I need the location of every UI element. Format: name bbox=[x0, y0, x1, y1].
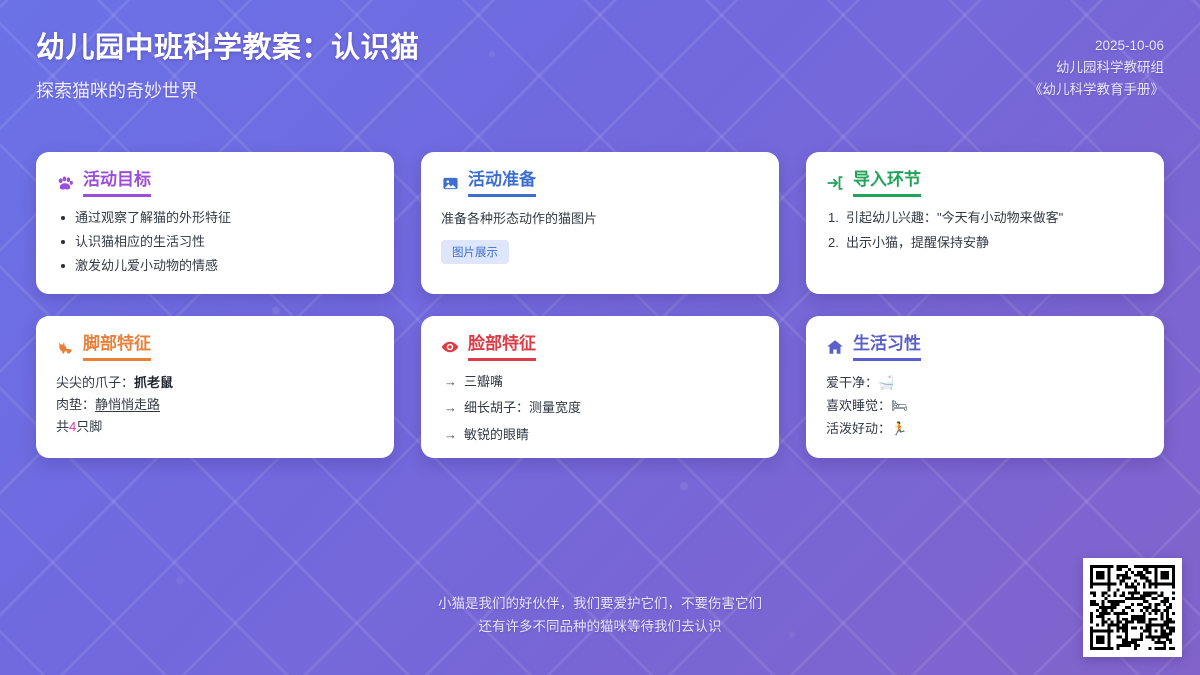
goal-list: 通过观察了解猫的外形特征 认识猫相应的生活习性 激发幼儿爱小动物的情感 bbox=[56, 208, 374, 275]
runner-icon: 🏃 bbox=[891, 422, 907, 437]
foot-claws-label: 尖尖的爪子： bbox=[56, 375, 134, 390]
meta-book: 《幼儿科学教育手册》 bbox=[1029, 79, 1164, 101]
page-subtitle: 探索猫咪的奇妙世界 bbox=[36, 77, 420, 103]
card-activity-goals[interactable]: 活动目标 通过观察了解猫的外形特征 认识猫相应的生活习性 激发幼儿爱小动物的情感 bbox=[36, 152, 394, 294]
habit-active-label: 活泼好动： bbox=[826, 421, 891, 436]
slide-footer: 小猫是我们的好伙伴，我们要爱护它们，不要伤害它们 还有许多不同品种的猫咪等待我们… bbox=[0, 592, 1200, 639]
intro-step-list: 引起幼儿兴趣："今天有小动物来做客" 出示小猫，提醒保持安静 bbox=[826, 208, 1144, 253]
footer-line-1: 小猫是我们的好伙伴，我们要爱护它们，不要伤害它们 bbox=[0, 592, 1200, 616]
habit-clean-label: 爱干净： bbox=[826, 375, 878, 390]
card-header: 生活习性 bbox=[826, 333, 1144, 361]
image-icon bbox=[441, 174, 459, 192]
prep-text: 准备各种形态动作的猫图片 bbox=[441, 208, 759, 229]
slide-header: 幼儿园中班科学教案：认识猫 探索猫咪的奇妙世界 2025-10-06 幼儿园科学… bbox=[0, 0, 1200, 140]
habit-sleep-label: 喜欢睡觉： bbox=[826, 398, 891, 413]
list-item: 通过观察了解猫的外形特征 bbox=[56, 208, 374, 228]
list-item: 细长胡子：测量宽度 bbox=[441, 398, 759, 418]
card-header: 导入环节 bbox=[826, 169, 1144, 197]
list-item: 激发幼儿爱小动物的情感 bbox=[56, 256, 374, 276]
list-item: 认识猫相应的生活习性 bbox=[56, 232, 374, 252]
card-title: 生活习性 bbox=[853, 333, 921, 361]
list-item: 敏锐的眼睛 bbox=[441, 425, 759, 445]
card-foot-features[interactable]: 脚部特征 尖尖的爪子：抓老鼠 肉垫：静悄悄走路 共4只脚 bbox=[36, 316, 394, 458]
card-title: 活动目标 bbox=[83, 169, 151, 197]
home-icon bbox=[826, 338, 844, 356]
card-title: 导入环节 bbox=[853, 169, 921, 197]
foot-count-prefix: 共 bbox=[56, 419, 69, 434]
qr-code[interactable] bbox=[1083, 558, 1182, 657]
habit-sleep: 喜欢睡觉：🛏 bbox=[826, 395, 1144, 417]
title-block: 幼儿园中班科学教案：认识猫 探索猫咪的奇妙世界 bbox=[36, 30, 420, 103]
foot-pads-value: 静悄悄走路 bbox=[95, 397, 160, 412]
card-body: 尖尖的爪子：抓老鼠 肉垫：静悄悄走路 共4只脚 bbox=[56, 372, 374, 437]
foot-count-suffix: 只脚 bbox=[76, 419, 102, 434]
footer-line-2: 还有许多不同品种的猫咪等待我们去认识 bbox=[0, 615, 1200, 639]
bathtub-icon: 🛁 bbox=[878, 376, 894, 391]
card-body: 通过观察了解猫的外形特征 认识猫相应的生活习性 激发幼儿爱小动物的情感 bbox=[56, 208, 374, 275]
qr-code-image bbox=[1090, 565, 1175, 650]
card-body: 爱干净：🛁 喜欢睡觉：🛏 活泼好动：🏃 bbox=[826, 372, 1144, 440]
card-body: 引起幼儿兴趣："今天有小动物来做客" 出示小猫，提醒保持安静 bbox=[826, 208, 1144, 253]
slide-canvas: 幼儿园中班科学教案：认识猫 探索猫咪的奇妙世界 2025-10-06 幼儿园科学… bbox=[0, 0, 1200, 675]
card-title: 脚部特征 bbox=[83, 333, 151, 361]
page-title: 幼儿园中班科学教案：认识猫 bbox=[36, 30, 420, 66]
list-item: 三瓣嘴 bbox=[441, 372, 759, 392]
habit-clean: 爱干净：🛁 bbox=[826, 372, 1144, 394]
bed-icon: 🛏 bbox=[891, 399, 908, 414]
image-display-tag[interactable]: 图片展示 bbox=[441, 240, 509, 264]
face-feature-list: 三瓣嘴 细长胡子：测量宽度 敏锐的眼睛 bbox=[441, 372, 759, 444]
card-living-habits[interactable]: 生活习性 爱干净：🛁 喜欢睡觉：🛏 活泼好动：🏃 bbox=[806, 316, 1164, 458]
header-meta: 2025-10-06 幼儿园科学教研组 《幼儿科学教育手册》 bbox=[1029, 30, 1164, 101]
eye-icon bbox=[441, 338, 459, 356]
card-header: 活动准备 bbox=[441, 169, 759, 197]
foot-line-claws: 尖尖的爪子：抓老鼠 bbox=[56, 372, 374, 393]
card-activity-prep[interactable]: 活动准备 准备各种形态动作的猫图片 图片展示 bbox=[421, 152, 779, 294]
paw-icon bbox=[56, 174, 74, 192]
foot-pads-label: 肉垫： bbox=[56, 397, 95, 412]
foot-claws-value: 抓老鼠 bbox=[134, 375, 173, 390]
card-header: 活动目标 bbox=[56, 169, 374, 197]
foot-line-count: 共4只脚 bbox=[56, 416, 374, 437]
card-title: 活动准备 bbox=[468, 169, 536, 197]
meta-date: 2025-10-06 bbox=[1029, 35, 1164, 57]
list-item: 引起幼儿兴趣："今天有小动物来做客" bbox=[826, 208, 1144, 228]
cat-icon bbox=[56, 338, 74, 356]
habit-active: 活泼好动：🏃 bbox=[826, 418, 1144, 440]
card-body: 三瓣嘴 细长胡子：测量宽度 敏锐的眼睛 bbox=[441, 372, 759, 444]
card-body: 准备各种形态动作的猫图片 图片展示 bbox=[441, 208, 759, 264]
foot-line-pads: 肉垫：静悄悄走路 bbox=[56, 394, 374, 415]
list-item: 出示小猫，提醒保持安静 bbox=[826, 233, 1144, 253]
meta-org: 幼儿园科学教研组 bbox=[1029, 57, 1164, 79]
card-header: 脸部特征 bbox=[441, 333, 759, 361]
card-intro-steps[interactable]: 导入环节 引起幼儿兴趣："今天有小动物来做客" 出示小猫，提醒保持安静 bbox=[806, 152, 1164, 294]
sign-in-icon bbox=[826, 174, 844, 192]
card-grid: 活动目标 通过观察了解猫的外形特征 认识猫相应的生活习性 激发幼儿爱小动物的情感 bbox=[36, 152, 1164, 458]
card-title: 脸部特征 bbox=[468, 333, 536, 361]
card-face-features[interactable]: 脸部特征 三瓣嘴 细长胡子：测量宽度 敏锐的眼睛 bbox=[421, 316, 779, 458]
card-header: 脚部特征 bbox=[56, 333, 374, 361]
